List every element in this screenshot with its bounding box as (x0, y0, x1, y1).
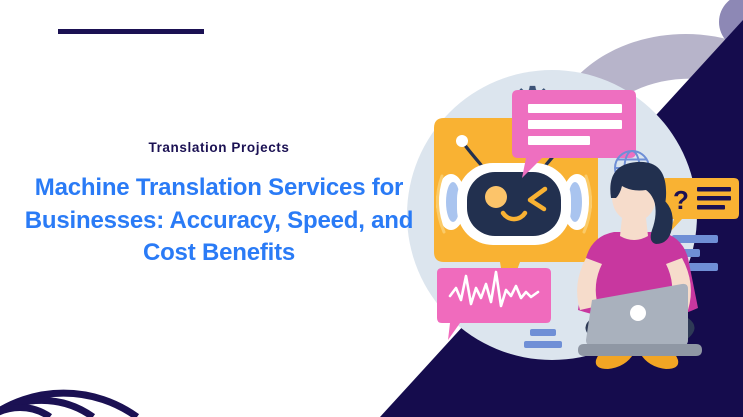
eyebrow-label: Translation Projects (22, 140, 416, 156)
slide-canvas: ? (0, 0, 743, 417)
laptop-logo (630, 305, 646, 321)
corner-arcs-decoration (0, 307, 180, 417)
laptop-base (578, 344, 702, 356)
robot-eye (485, 186, 507, 208)
text-block: Translation Projects Machine Translation… (22, 140, 416, 270)
arc-inner (0, 407, 50, 417)
robot-visor (467, 172, 561, 236)
question-mark-icon: ? (673, 185, 689, 215)
page-title: Machine Translation Services for Busines… (22, 172, 416, 270)
top-accent-rule (58, 29, 204, 34)
robot-antenna-tip-left (456, 135, 468, 147)
